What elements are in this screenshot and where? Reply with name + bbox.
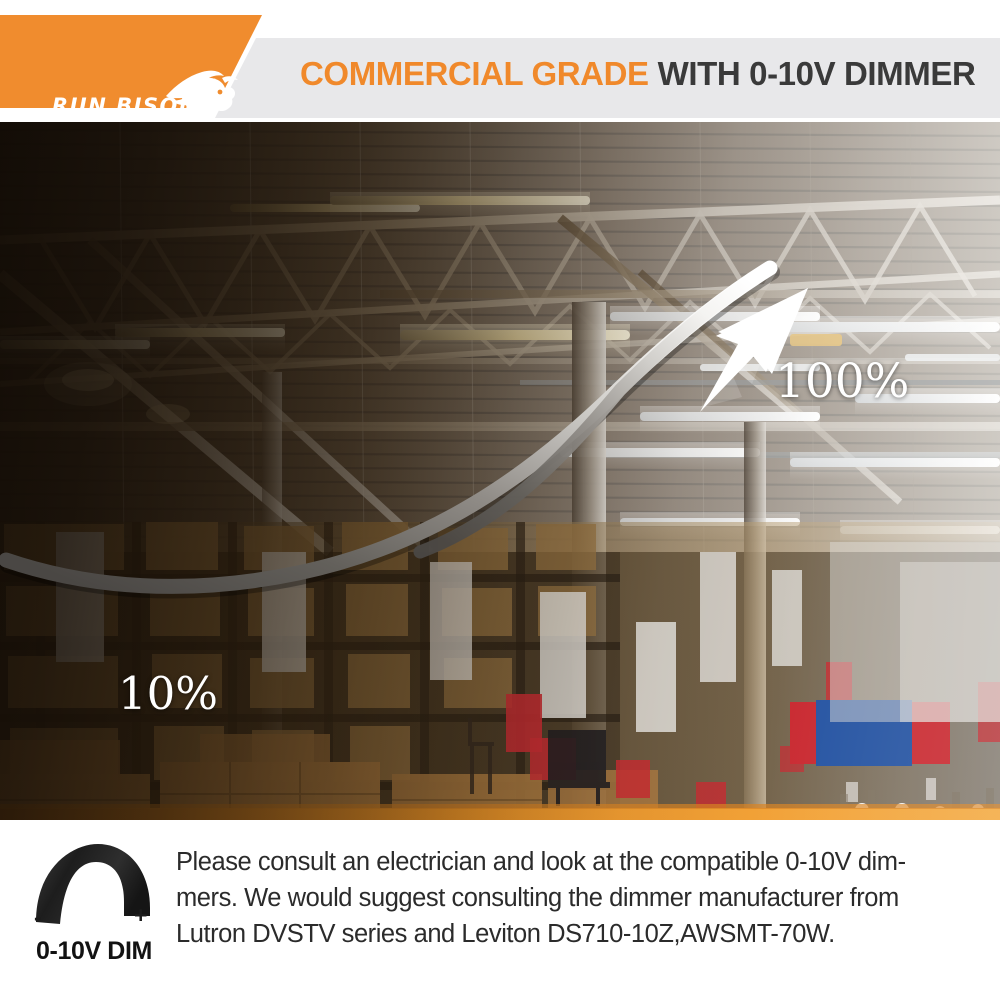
footer-line-3: Lutron DVSTV series and Leviton DS710-10… (176, 916, 981, 952)
dim-icon-caption: 0-10V DIM (14, 937, 174, 966)
footer-line-1: Please consult an electrician and look a… (176, 844, 981, 880)
title-accent-text: COMMERCIAL GRADE (300, 55, 649, 93)
page-title: COMMERCIAL GRADE WITH 0-10V DIMMER (300, 48, 990, 100)
footer-line-2: mers. We would suggest consulting the di… (176, 880, 981, 916)
footer-note: - + 0-10V DIM Please consult an electric… (0, 820, 1000, 1000)
bright-percent-label: 100% (775, 354, 909, 409)
dimmer-knob-icon (20, 842, 170, 934)
bison-head-icon (162, 66, 240, 122)
plus-sign-label: + (134, 902, 147, 929)
header-banner: RUN BISON COMMERCIAL GRADE WITH 0-10V DI… (0, 0, 1000, 122)
footer-body-text: Please consult an electrician and look a… (176, 844, 981, 952)
warehouse-photo: 10% 100% (0, 122, 1000, 820)
dim-percent-label: 10% (118, 667, 218, 720)
brand-logo[interactable]: RUN BISON (22, 38, 222, 90)
dimmer-knob-icon-block: - + 0-10V DIM (14, 842, 174, 974)
title-main-text: WITH 0-10V DIMMER (658, 55, 976, 93)
minus-sign-label: - (34, 904, 42, 931)
